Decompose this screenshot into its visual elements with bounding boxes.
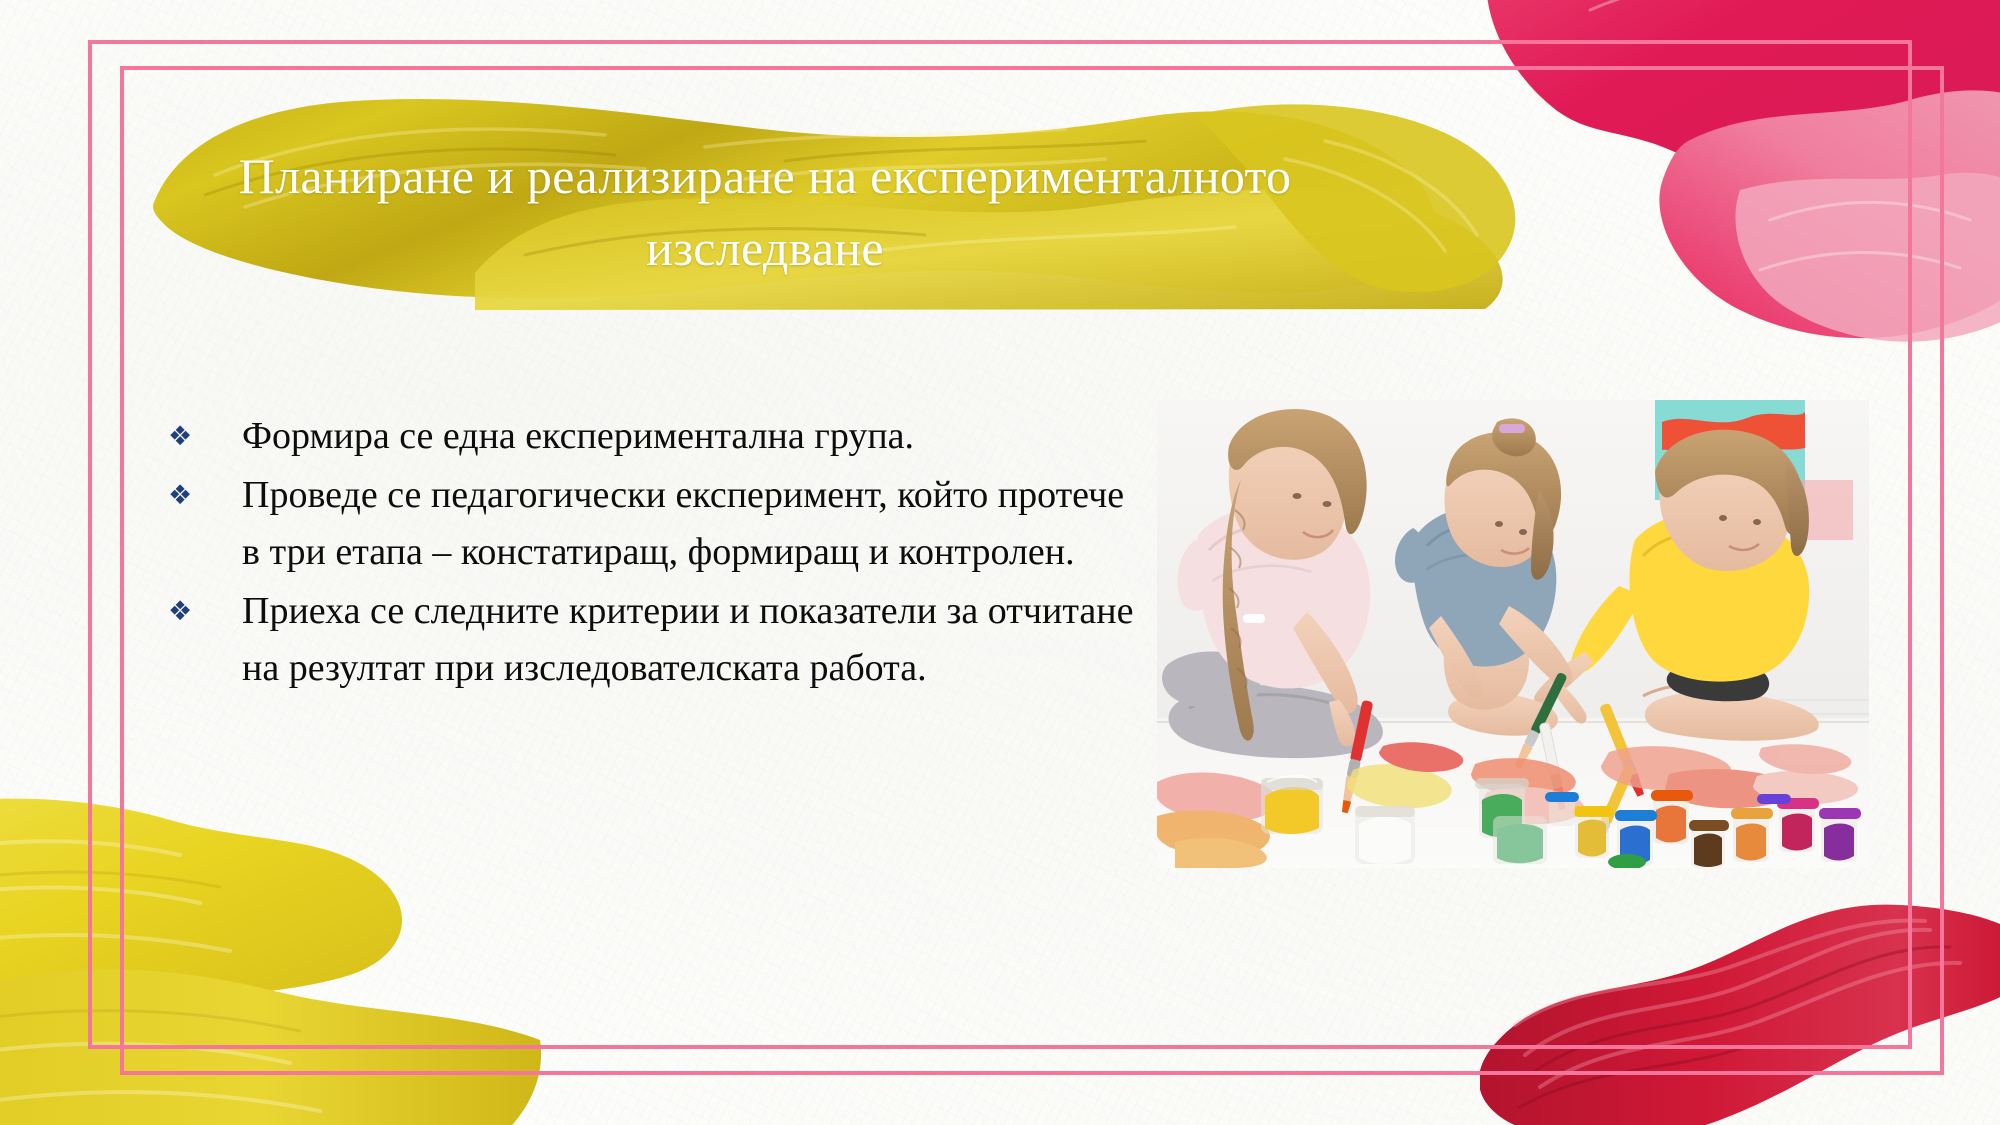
pink-blob-top-right-decoration <box>1440 0 2000 370</box>
diamond-bullet-icon: ❖ <box>160 583 242 640</box>
children-painting-photo <box>1157 400 1869 868</box>
slide-body-bullet-list: ❖ Формира се една експериментална група.… <box>160 408 1140 699</box>
yellow-blob-bottom-left-decoration <box>0 775 550 1125</box>
diamond-bullet-icon: ❖ <box>160 467 242 524</box>
bullet-item-3: ❖ Приеха се следните критерии и показате… <box>160 583 1140 697</box>
presentation-slide: Планиране и реализиране на експериментал… <box>0 0 2000 1125</box>
slide-title: Планиране и реализиране на експериментал… <box>150 140 1380 284</box>
slide-title-line-1: Планиране и реализиране на експериментал… <box>150 140 1380 212</box>
diamond-bullet-icon: ❖ <box>160 408 242 465</box>
red-stroke-bottom-right-decoration <box>1480 875 2000 1125</box>
bullet-item-2: ❖ Проведе се педагогически експеримент, … <box>160 467 1140 581</box>
bullet-item-3-text: Приеха се следните критерии и показатели… <box>242 583 1140 697</box>
bullet-item-1-text: Формира се една експериментална група. <box>242 408 1140 465</box>
slide-title-line-2: изследване <box>150 212 1380 284</box>
bullet-item-2-text: Проведе се педагогически експеримент, ко… <box>242 467 1140 581</box>
bullet-item-1: ❖ Формира се една експериментална група. <box>160 408 1140 465</box>
